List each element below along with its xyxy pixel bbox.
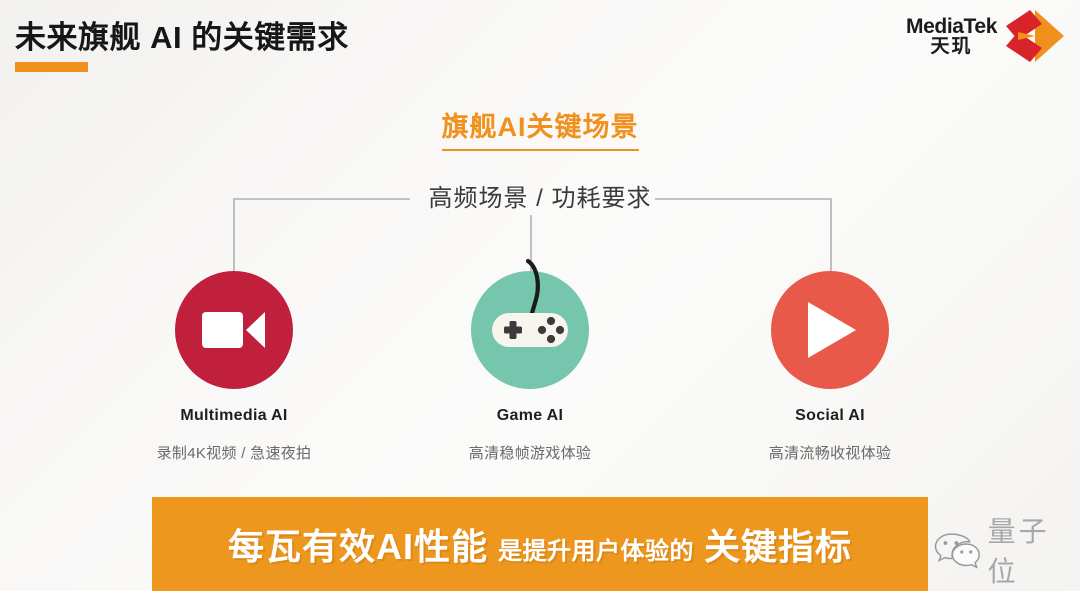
scenario-card-social[interactable]: Social AI 高清流畅收视体验 [700, 271, 960, 463]
video-camera-icon [201, 306, 267, 354]
banner-part-2: 是提升用户体验的 [498, 531, 694, 566]
scenario-card-game[interactable]: Game AI 高清稳帧游戏体验 [400, 271, 660, 463]
section-heading-text: 旗舰AI关键场景 [442, 105, 639, 151]
bottom-banner: 每瓦有效AI性能 是提升用户体验的 关键指标 [152, 497, 928, 591]
center-label: 高频场景 / 功耗要求 [0, 178, 1080, 213]
scenario-circle-social [771, 271, 889, 389]
mediatek-diamond-icon [1004, 8, 1066, 64]
logo-text-en: MediaTek [906, 16, 997, 37]
scenario-sub-game: 高清稳帧游戏体验 [400, 442, 660, 463]
section-heading: 旗舰AI关键场景 [0, 105, 1080, 151]
scenario-label-game: Game AI [400, 407, 660, 425]
mediatek-logo: MediaTek 天玑 [906, 8, 1066, 64]
scenario-label-multimedia: Multimedia AI [104, 407, 364, 425]
scenario-circle-game [471, 271, 589, 389]
scenario-sub-multimedia: 录制4K视频 / 急速夜拍 [104, 442, 364, 463]
logo-text-cn: 天玑 [931, 37, 973, 56]
scenario-label-social: Social AI [700, 407, 960, 425]
scenario-sub-social: 高清流畅收视体验 [700, 442, 960, 463]
wechat-icon [934, 531, 980, 569]
banner-part-1: 每瓦有效AI性能 [228, 518, 488, 570]
logo-wordmark: MediaTek 天玑 [906, 16, 997, 57]
play-button-icon [800, 299, 860, 361]
gamepad-icon [471, 271, 589, 389]
bottom-banner-text: 每瓦有效AI性能 是提升用户体验的 关键指标 [228, 518, 852, 570]
title-accent-bar [15, 62, 88, 72]
banner-part-3: 关键指标 [704, 518, 852, 570]
scenario-circle-multimedia [175, 271, 293, 389]
scenario-card-multimedia[interactable]: Multimedia AI 录制4K视频 / 急速夜拍 [104, 271, 364, 463]
page-title: 未来旗舰 AI 的关键需求 [15, 12, 349, 57]
watermark: 量子位 [934, 510, 1080, 590]
slide-canvas: 未来旗舰 AI 的关键需求 MediaTek 天玑 旗舰AI关键场景 高频场景 … [0, 0, 1080, 591]
watermark-text: 量子位 [988, 510, 1080, 590]
